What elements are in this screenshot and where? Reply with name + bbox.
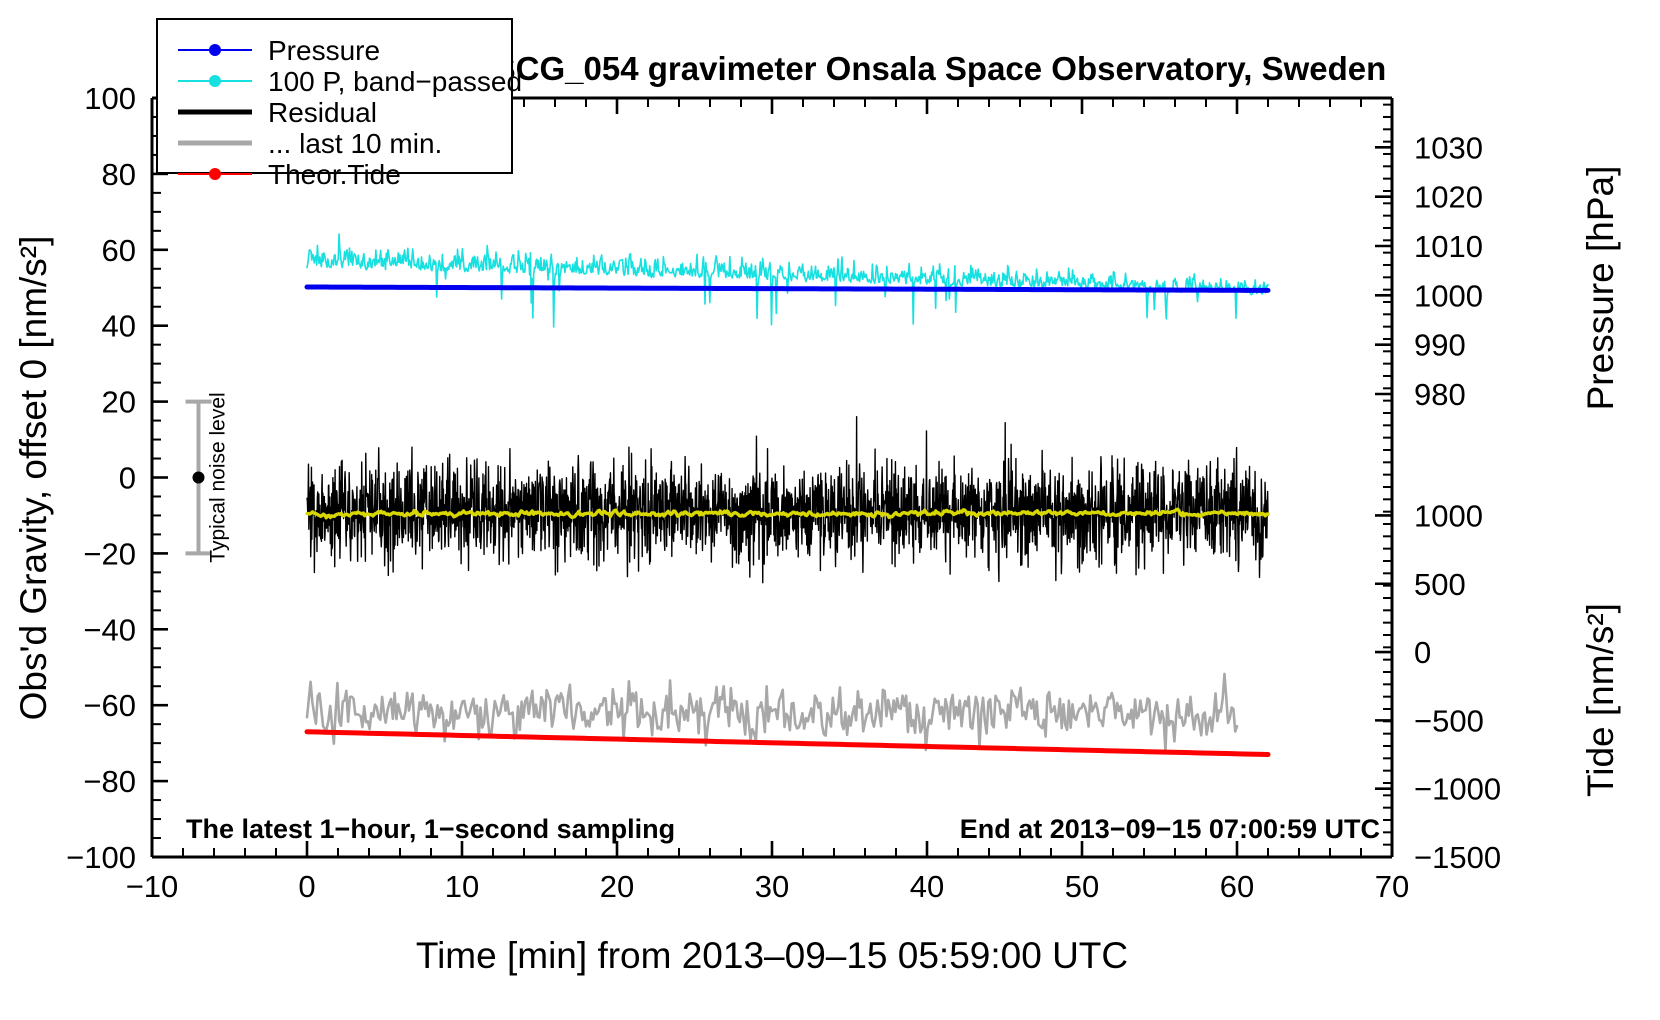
series-last-10-min [307, 674, 1237, 751]
tide-ticklabel: −1500 [1414, 840, 1501, 875]
tide-ticklabel: 500 [1414, 567, 1466, 602]
data-series-group [307, 234, 1268, 755]
y-ticklabel: 20 [102, 385, 136, 420]
x-ticklabel: 20 [600, 869, 634, 904]
x-ticklabel: 70 [1375, 869, 1409, 904]
y-ticklabel: 40 [102, 309, 136, 344]
y-axis-ticks-right [1375, 105, 1392, 857]
pressure-ticklabel: 1010 [1414, 229, 1483, 264]
y-ticklabel: −100 [66, 840, 136, 875]
legend: Pressure100 P, band−passedResidual... la… [157, 19, 522, 190]
legend-label-2: Residual [268, 97, 377, 128]
series-pressure [307, 287, 1268, 290]
x-ticklabel: 10 [445, 869, 479, 904]
tide-ticklabel: 0 [1414, 635, 1431, 670]
y-axis-title: Obs'd Gravity, offset 0 [nm/s²] [13, 236, 54, 721]
sampling-note: The latest 1−hour, 1−second sampling [186, 814, 675, 844]
legend-marker-1 [209, 75, 221, 87]
pressure-ticklabel: 990 [1414, 328, 1466, 363]
legend-marker-4 [209, 168, 221, 180]
tide-ticklabel: 1000 [1414, 498, 1483, 533]
y-ticklabel: 100 [84, 81, 136, 116]
x-ticklabel: 40 [910, 869, 944, 904]
series-band-passed [307, 234, 1268, 327]
y-ticklabel: 0 [119, 461, 136, 496]
y-ticklabel: −40 [83, 612, 136, 647]
tide-axis-title: Tide [nm/s²] [1580, 603, 1621, 797]
pressure-ticklabel: 980 [1414, 377, 1466, 412]
chart-figure: −10010203040506070 −100−80−60−40−2002040… [0, 0, 1660, 1020]
x-ticklabel: 0 [298, 869, 315, 904]
end-time-note: End at 2013−09−15 07:00:59 UTC [960, 814, 1380, 844]
x-ticklabel: 50 [1065, 869, 1099, 904]
y-ticklabel: −20 [83, 536, 136, 571]
x-ticklabel: 60 [1220, 869, 1254, 904]
legend-label-4: Theor.Tide [268, 159, 401, 190]
x-ticklabel: 30 [755, 869, 789, 904]
pressure-axis-title: Pressure [hPa] [1580, 166, 1621, 411]
tide-ticklabel: −1000 [1414, 772, 1501, 807]
x-axis-title: Time [min] from 2013‒09‒15 05:59:00 UTC [416, 935, 1128, 976]
legend-label-0: Pressure [268, 35, 380, 66]
pressure-ticklabel: 1020 [1414, 180, 1483, 215]
y-ticklabel: −80 [83, 764, 136, 799]
legend-marker-0 [209, 44, 221, 56]
y-ticklabel: 80 [102, 157, 136, 192]
legend-label-3: ... last 10 min. [268, 128, 442, 159]
x-axis-ticklabels: −10010203040506070 [126, 869, 1410, 904]
legend-label-1: 100 P, band−passed [268, 66, 522, 97]
pressure-ticklabel: 1030 [1414, 130, 1483, 165]
noise-level-label: Typical noise level [207, 392, 230, 562]
y-ticklabel: 60 [102, 233, 136, 268]
series-theor-tide [307, 732, 1268, 755]
y-axis-ticklabels: −100−80−60−40−20020406080100 [66, 81, 136, 875]
y-axis-ticks-left [152, 98, 168, 857]
chart-svg: −10010203040506070 −100−80−60−40−2002040… [0, 0, 1660, 1020]
y-ticklabel: −60 [83, 688, 136, 723]
series-residual [307, 417, 1268, 583]
tide-axis-ticklabels: −1500−1000−50005001000 [1414, 498, 1501, 875]
typical-noise-level-marker: Typical noise level [186, 392, 230, 562]
pressure-ticklabel: 1000 [1414, 278, 1483, 313]
pressure-axis-ticklabels: 9809901000101010201030 [1414, 130, 1483, 412]
tide-ticklabel: −500 [1414, 703, 1484, 738]
noise-center-dot [193, 472, 205, 484]
chart-title: SCG_054 gravimeter Onsala Space Observat… [494, 50, 1387, 87]
